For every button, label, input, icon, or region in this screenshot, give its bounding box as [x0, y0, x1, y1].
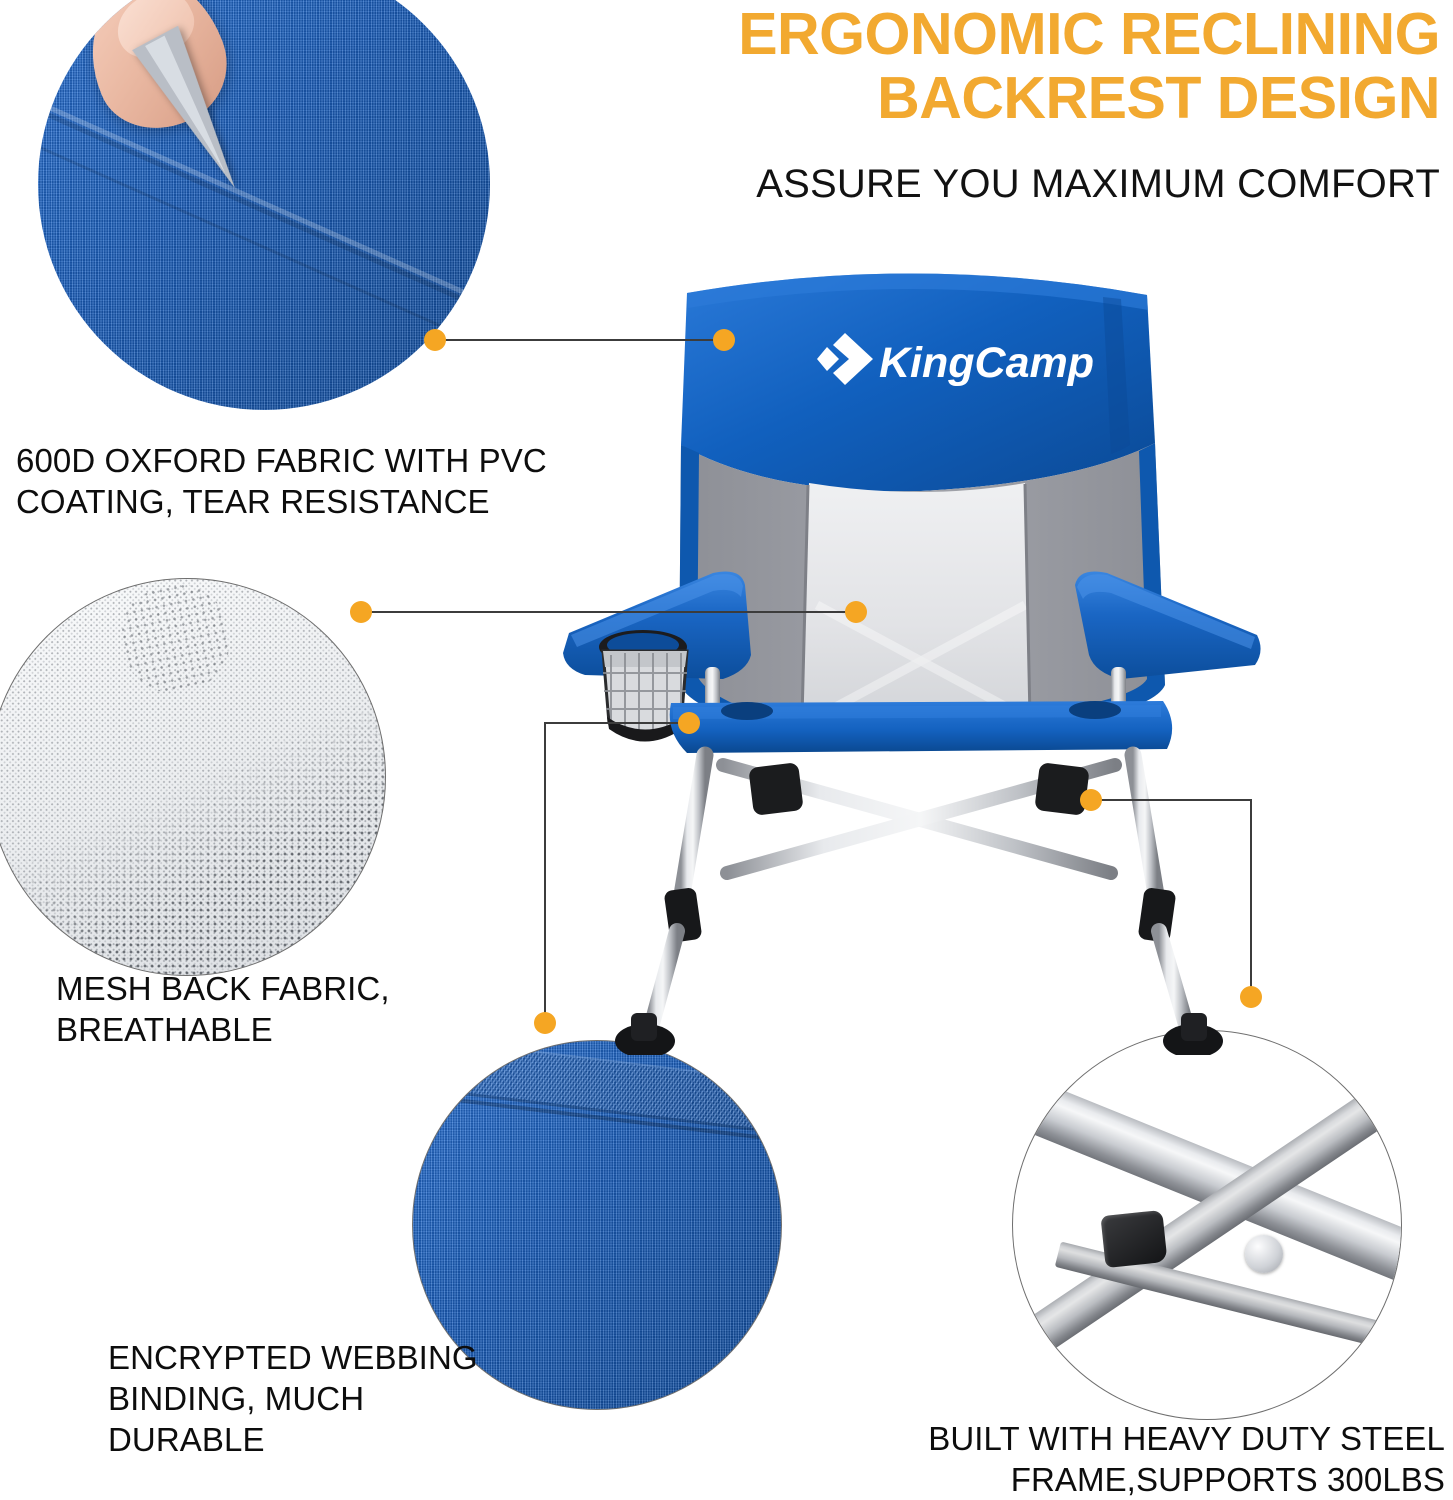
fabric-seam-line-2 — [38, 119, 490, 398]
callout-dot-oxford-circle — [424, 329, 446, 351]
seat-hole-right — [1069, 701, 1121, 719]
webbing-binding-strip — [412, 1040, 782, 1142]
callout-line-mesh — [362, 611, 857, 613]
plastic-joint-right — [1034, 762, 1089, 816]
headline-line-2: BACKREST DESIGN — [600, 66, 1440, 130]
caption-steel-frame: BUILT WITH HEAVY DUTY STEEL FRAME,SUPPOR… — [890, 1418, 1445, 1500]
detail-circle-oxford — [38, 0, 490, 410]
detail-circle-mesh — [0, 578, 386, 976]
callout-line-oxford — [436, 339, 726, 341]
callout-line-webbing-h — [544, 722, 690, 724]
plastic-joint — [1100, 1210, 1167, 1268]
callout-line-steel-h — [1096, 799, 1252, 801]
plastic-joint-left — [748, 762, 803, 816]
frame-upper-left — [681, 755, 705, 901]
mesh-panel-center-light — [803, 483, 1029, 718]
frame-upper-right — [1133, 755, 1157, 901]
callout-dot-steel-chair — [1080, 789, 1102, 811]
armrest-right — [1075, 572, 1261, 680]
caption-mesh-back: MESH BACK FABRIC, BREATHABLE — [56, 968, 486, 1050]
callout-dot-mesh-circle — [350, 601, 372, 623]
camping-chair-product-image: KingCamp — [555, 255, 1275, 1055]
page-title: ERGONOMIC RECLINING BACKREST DESIGN — [600, 2, 1440, 130]
fabric-seam-line — [38, 73, 490, 353]
kingcamp-wordmark: KingCamp — [879, 339, 1094, 387]
infographic-canvas: ERGONOMIC RECLINING BACKREST DESIGN ASSU… — [0, 0, 1453, 1500]
page-subtitle: ASSURE YOU MAXIMUM COMFORT — [600, 160, 1440, 208]
rivet-icon — [1245, 1235, 1283, 1273]
seat-hole-left — [721, 702, 773, 720]
callout-line-webbing-v — [544, 722, 546, 1024]
callout-dot-oxford-chair — [713, 329, 735, 351]
callout-dot-webbing-chair — [678, 712, 700, 734]
callout-line-steel-v — [1250, 799, 1252, 997]
detail-circle-steel — [1012, 1030, 1402, 1420]
mesh-dark-zone — [0, 579, 385, 975]
callout-dot-steel-circle — [1240, 986, 1262, 1008]
caption-oxford-fabric: 600D OXFORD FABRIC WITH PVC COATING, TEA… — [16, 440, 586, 522]
callout-dot-mesh-chair — [845, 601, 867, 623]
headline-line-1: ERGONOMIC RECLINING — [600, 2, 1440, 66]
caption-webbing-binding: ENCRYPTED WEBBING BINDING, MUCH DURABLE — [108, 1337, 508, 1460]
callout-dot-webbing-circle — [534, 1012, 556, 1034]
